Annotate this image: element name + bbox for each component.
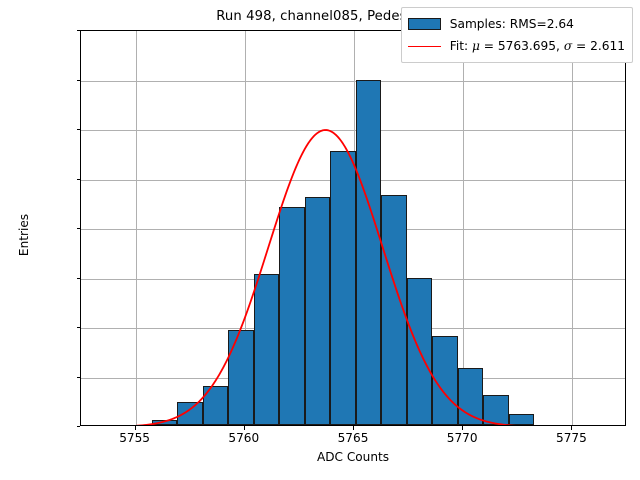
y-tick-mark — [77, 426, 81, 427]
x-tick-label: 5760 — [204, 431, 284, 445]
plot-area — [80, 30, 626, 426]
matplotlib-figure: Run 498, channel085, Pedestal Entries AD… — [0, 0, 640, 480]
fit-curve-path — [81, 130, 626, 426]
gaussian-fit-curve — [81, 31, 626, 426]
x-axis-label: ADC Counts — [80, 450, 626, 464]
x-tick-mark — [571, 426, 572, 430]
legend-label-samples: Samples: RMS=2.64 — [450, 17, 574, 31]
x-tick-mark — [462, 426, 463, 430]
x-tick-mark — [135, 426, 136, 430]
y-axis-label: Entries — [17, 135, 31, 335]
x-tick-label: 5765 — [313, 431, 393, 445]
x-tick-label: 5775 — [531, 431, 611, 445]
x-tick-label: 5755 — [95, 431, 175, 445]
x-tick-mark — [353, 426, 354, 430]
x-tick-label: 5770 — [422, 431, 502, 445]
legend-patch-icon — [408, 18, 441, 30]
x-tick-mark — [244, 426, 245, 430]
